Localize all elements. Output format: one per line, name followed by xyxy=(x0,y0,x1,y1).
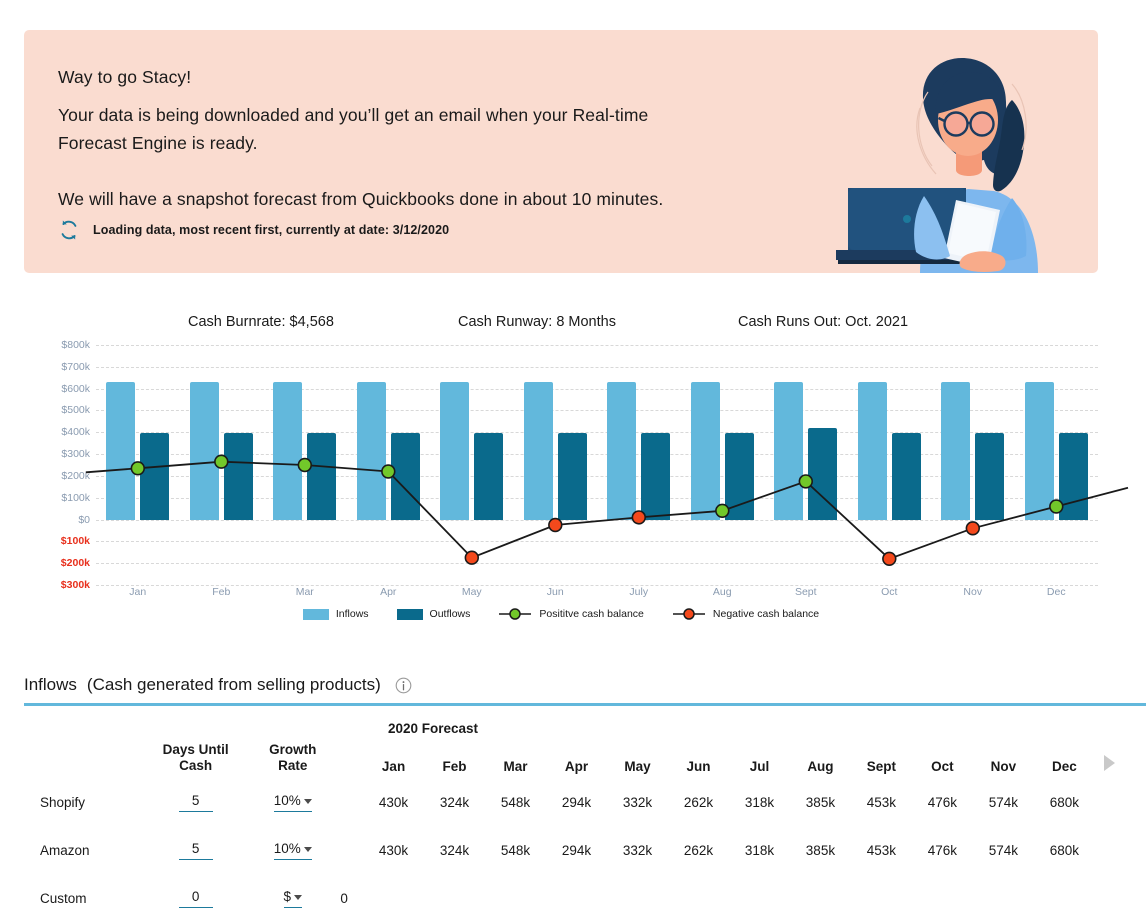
woman-at-laptop-illustration xyxy=(816,48,1076,273)
cell-month-value[interactable]: 476k xyxy=(912,826,973,874)
cell-month-value[interactable]: 430k xyxy=(363,778,424,826)
chart-x-axis: JanFebMarAprMayJunJulyAugSeptOctNovDec xyxy=(96,586,1098,604)
col-header-month: Jul xyxy=(729,718,790,778)
chart-y-tick-label: $400k xyxy=(28,426,90,438)
chart-x-tick-label: Oct xyxy=(881,586,897,598)
chart-x-tick-label: May xyxy=(462,586,482,598)
chart-y-tick-label: $300k xyxy=(28,448,90,460)
chart-line-point xyxy=(966,522,979,535)
col-header-month: May xyxy=(607,718,668,778)
cell-month-value[interactable] xyxy=(790,874,851,922)
cell-month-value[interactable]: 574k xyxy=(973,778,1034,826)
cell-row-end xyxy=(1095,874,1124,922)
col-header-month: Apr xyxy=(546,718,607,778)
chart-legend-item[interactable]: Negative cash balance xyxy=(672,608,819,620)
cell-month-value[interactable]: 318k xyxy=(729,778,790,826)
cell-spacer xyxy=(340,778,363,826)
chart-legend-item[interactable]: Outflows xyxy=(397,608,471,620)
loading-status-row: Loading data, most recent first, current… xyxy=(58,219,449,241)
growth-rate-value: 10% xyxy=(274,793,301,808)
banner-line-2: Your data is being downloaded and you’ll… xyxy=(58,101,828,129)
chart-x-tick-label: Jun xyxy=(547,586,564,598)
chart-line-point xyxy=(382,465,395,478)
chart-plot-area: $800k$700k$600k$500k$400k$300k$200k$100k… xyxy=(96,345,1098,585)
cell-row-end xyxy=(1095,778,1124,826)
col-header-growth-rate: Growth Rate xyxy=(245,718,340,778)
chevron-down-icon xyxy=(294,895,302,900)
growth-rate-line2: Rate xyxy=(278,758,307,773)
col-header-days-until-cash: Days Until Cash xyxy=(146,718,245,778)
chevron-down-icon xyxy=(304,847,312,852)
legend-label: Inflows xyxy=(336,608,369,620)
col-header-month: Oct xyxy=(912,718,973,778)
cell-month-value[interactable] xyxy=(851,874,912,922)
cell-month-value[interactable]: 430k xyxy=(363,826,424,874)
info-circle-icon[interactable] xyxy=(391,677,412,694)
cash-runs-out-title: Cash Runs Out: Oct. 2021 xyxy=(738,314,908,330)
days-until-cash-line2: Cash xyxy=(179,758,212,773)
chart-line-point xyxy=(549,519,562,532)
chart-line-point xyxy=(1050,500,1063,513)
growth-rate-line1: Growth xyxy=(269,742,316,757)
cell-month-value[interactable] xyxy=(912,874,973,922)
chart-legend: InflowsOutflowsPosititve cash balanceNeg… xyxy=(24,608,1098,620)
chart-y-tick-label: $0 xyxy=(28,514,90,526)
chart-line-point xyxy=(883,552,896,565)
cell-month-value[interactable]: 453k xyxy=(851,778,912,826)
cell-month-value[interactable]: 332k xyxy=(607,826,668,874)
col-header-spacer xyxy=(340,718,363,778)
chart-x-tick-label: Sept xyxy=(795,586,817,598)
cell-spacer: 0 xyxy=(340,874,363,922)
col-header-month: Jan xyxy=(363,718,424,778)
growth-rate-value: $ xyxy=(284,889,292,904)
chart-x-tick-label: Jan xyxy=(129,586,146,598)
days-until-cash-input[interactable]: 0 xyxy=(179,889,213,908)
col-header-month: Dec xyxy=(1034,718,1095,778)
chart-line-point xyxy=(215,455,228,468)
chart-line-point xyxy=(298,459,311,472)
legend-label: Outflows xyxy=(430,608,471,620)
days-until-cash-input[interactable]: 5 xyxy=(179,841,213,860)
table-row: Amazon510%430k324k548k294k332k262k318k38… xyxy=(24,826,1124,874)
chart-legend-item[interactable]: Posititve cash balance xyxy=(498,608,643,620)
chart-x-tick-label: Mar xyxy=(296,586,314,598)
days-until-cash-input[interactable]: 5 xyxy=(179,793,213,812)
chart-x-tick-label: Aug xyxy=(713,586,732,598)
cell-growth-rate: 10% xyxy=(245,778,340,826)
inflows-forecast-table: Days Until Cash Growth Rate JanFebMarApr… xyxy=(24,718,1124,922)
chart-line-point xyxy=(632,511,645,524)
chart-line-point xyxy=(716,504,729,517)
table-row: Custom0$0 xyxy=(24,874,1124,922)
cell-row-end xyxy=(1095,826,1124,874)
col-header-month: Jun xyxy=(668,718,729,778)
cell-growth-rate: 10% xyxy=(245,826,340,874)
table-row: Shopify510%430k324k548k294k332k262k318k3… xyxy=(24,778,1124,826)
chart-x-tick-label: Feb xyxy=(212,586,230,598)
growth-rate-dropdown[interactable]: $ xyxy=(284,889,303,908)
cash-burnrate-title: Cash Burnrate: $4,568 xyxy=(188,314,334,330)
cell-month-value[interactable]: 476k xyxy=(912,778,973,826)
cell-month-value[interactable] xyxy=(973,874,1034,922)
chart-legend-item[interactable]: Inflows xyxy=(303,608,369,620)
chart-y-tick-label: $200k xyxy=(28,557,90,569)
loading-status-text: Loading data, most recent first, current… xyxy=(93,223,449,237)
growth-rate-dropdown[interactable]: 10% xyxy=(274,841,312,860)
cell-month-value[interactable]: 318k xyxy=(729,826,790,874)
legend-marker-icon xyxy=(672,608,706,620)
chevron-down-icon xyxy=(304,799,312,804)
cell-growth-rate: $ xyxy=(245,874,340,922)
section-divider xyxy=(24,703,1146,706)
chart-y-tick-label: $700k xyxy=(28,361,90,373)
chart-x-tick-label: Nov xyxy=(963,586,982,598)
chart-y-tick-label: $100k xyxy=(28,492,90,504)
cell-month-value[interactable]: 548k xyxy=(485,826,546,874)
cell-month-value[interactable]: 453k xyxy=(851,826,912,874)
cell-month-value[interactable] xyxy=(363,874,424,922)
table-header: Days Until Cash Growth Rate JanFebMarApr… xyxy=(24,718,1124,778)
cell-month-value[interactable] xyxy=(1034,874,1095,922)
chart-y-tick-label: $600k xyxy=(28,383,90,395)
cell-month-value[interactable]: 385k xyxy=(790,826,851,874)
chart-y-tick-label: $200k xyxy=(28,470,90,482)
legend-label: Posititve cash balance xyxy=(539,608,643,620)
banner-line-3: Forecast Engine is ready. xyxy=(58,129,828,157)
cell-month-value[interactable] xyxy=(607,874,668,922)
chart-y-tick-label: $300k xyxy=(28,579,90,591)
growth-rate-value: 10% xyxy=(274,841,301,856)
section-subtitle: (Cash generated from selling products) xyxy=(87,675,381,695)
cell-month-value[interactable] xyxy=(546,874,607,922)
col-header-month: Mar xyxy=(485,718,546,778)
chart-x-tick-label: Apr xyxy=(380,586,396,598)
chart-line-point xyxy=(131,462,144,475)
cell-month-value[interactable]: 294k xyxy=(546,826,607,874)
row-source-name: Shopify xyxy=(24,778,146,826)
banner-text-block: Way to go Stacy! Your data is being down… xyxy=(58,63,828,213)
cell-month-value[interactable]: 385k xyxy=(790,778,851,826)
table-body: Shopify510%430k324k548k294k332k262k318k3… xyxy=(24,778,1124,922)
col-header-name xyxy=(24,718,146,778)
chevron-right-icon xyxy=(1104,755,1115,771)
cell-month-value[interactable] xyxy=(424,874,485,922)
cell-spacer xyxy=(340,826,363,874)
cell-month-value[interactable]: 262k xyxy=(668,778,729,826)
section-title: Inflows xyxy=(24,675,77,695)
cell-days-until-cash: 5 xyxy=(146,778,245,826)
status-banner: Way to go Stacy! Your data is being down… xyxy=(24,30,1098,273)
growth-rate-dropdown[interactable]: 10% xyxy=(274,793,312,812)
row-source-name: Amazon xyxy=(24,826,146,874)
legend-color-swatch xyxy=(303,609,329,620)
chart-y-tick-label: $100k xyxy=(28,535,90,547)
sync-refresh-icon xyxy=(58,219,80,241)
custom-amount-input[interactable]: 0 xyxy=(340,891,348,906)
row-source-name: Custom xyxy=(24,874,146,922)
chart-line-point xyxy=(799,475,812,488)
legend-label: Negative cash balance xyxy=(713,608,819,620)
cash-runway-title: Cash Runway: 8 Months xyxy=(458,314,616,330)
cell-days-until-cash: 0 xyxy=(146,874,245,922)
days-until-cash-line1: Days Until xyxy=(163,742,229,757)
chart-x-tick-label: July xyxy=(629,586,648,598)
cell-month-value[interactable]: 680k xyxy=(1034,778,1095,826)
cell-month-value[interactable]: 294k xyxy=(546,778,607,826)
cell-month-value[interactable]: 324k xyxy=(424,778,485,826)
chart-line-point xyxy=(465,551,478,564)
cell-month-value[interactable]: 574k xyxy=(973,826,1034,874)
col-header-month: Aug xyxy=(790,718,851,778)
cell-month-value[interactable]: 680k xyxy=(1034,826,1095,874)
banner-line-4: We will have a snapshot forecast from Qu… xyxy=(58,185,828,213)
cell-month-value[interactable]: 548k xyxy=(485,778,546,826)
col-header-month: Feb xyxy=(424,718,485,778)
cell-month-value[interactable] xyxy=(729,874,790,922)
cell-month-value[interactable]: 262k xyxy=(668,826,729,874)
cell-month-value[interactable] xyxy=(485,874,546,922)
chart-x-tick-label: Dec xyxy=(1047,586,1066,598)
legend-color-swatch xyxy=(397,609,423,620)
col-header-month: Nov xyxy=(973,718,1034,778)
cash-flow-chart: Cash Burnrate: $4,568 Cash Runway: 8 Mon… xyxy=(24,300,1098,640)
chart-cash-balance-line xyxy=(96,345,1098,585)
cell-month-value[interactable]: 324k xyxy=(424,826,485,874)
legend-marker-icon xyxy=(498,608,532,620)
cell-month-value[interactable]: 332k xyxy=(607,778,668,826)
inflows-section-header: Inflows (Cash generated from selling pro… xyxy=(24,675,412,695)
cell-days-until-cash: 5 xyxy=(146,826,245,874)
banner-heading: Way to go Stacy! xyxy=(58,63,828,91)
cell-month-value[interactable] xyxy=(668,874,729,922)
chart-y-tick-label: $500k xyxy=(28,404,90,416)
col-header-month: Sept xyxy=(851,718,912,778)
chart-y-tick-label: $800k xyxy=(28,339,90,351)
table-scroll-right-button[interactable] xyxy=(1095,718,1124,778)
